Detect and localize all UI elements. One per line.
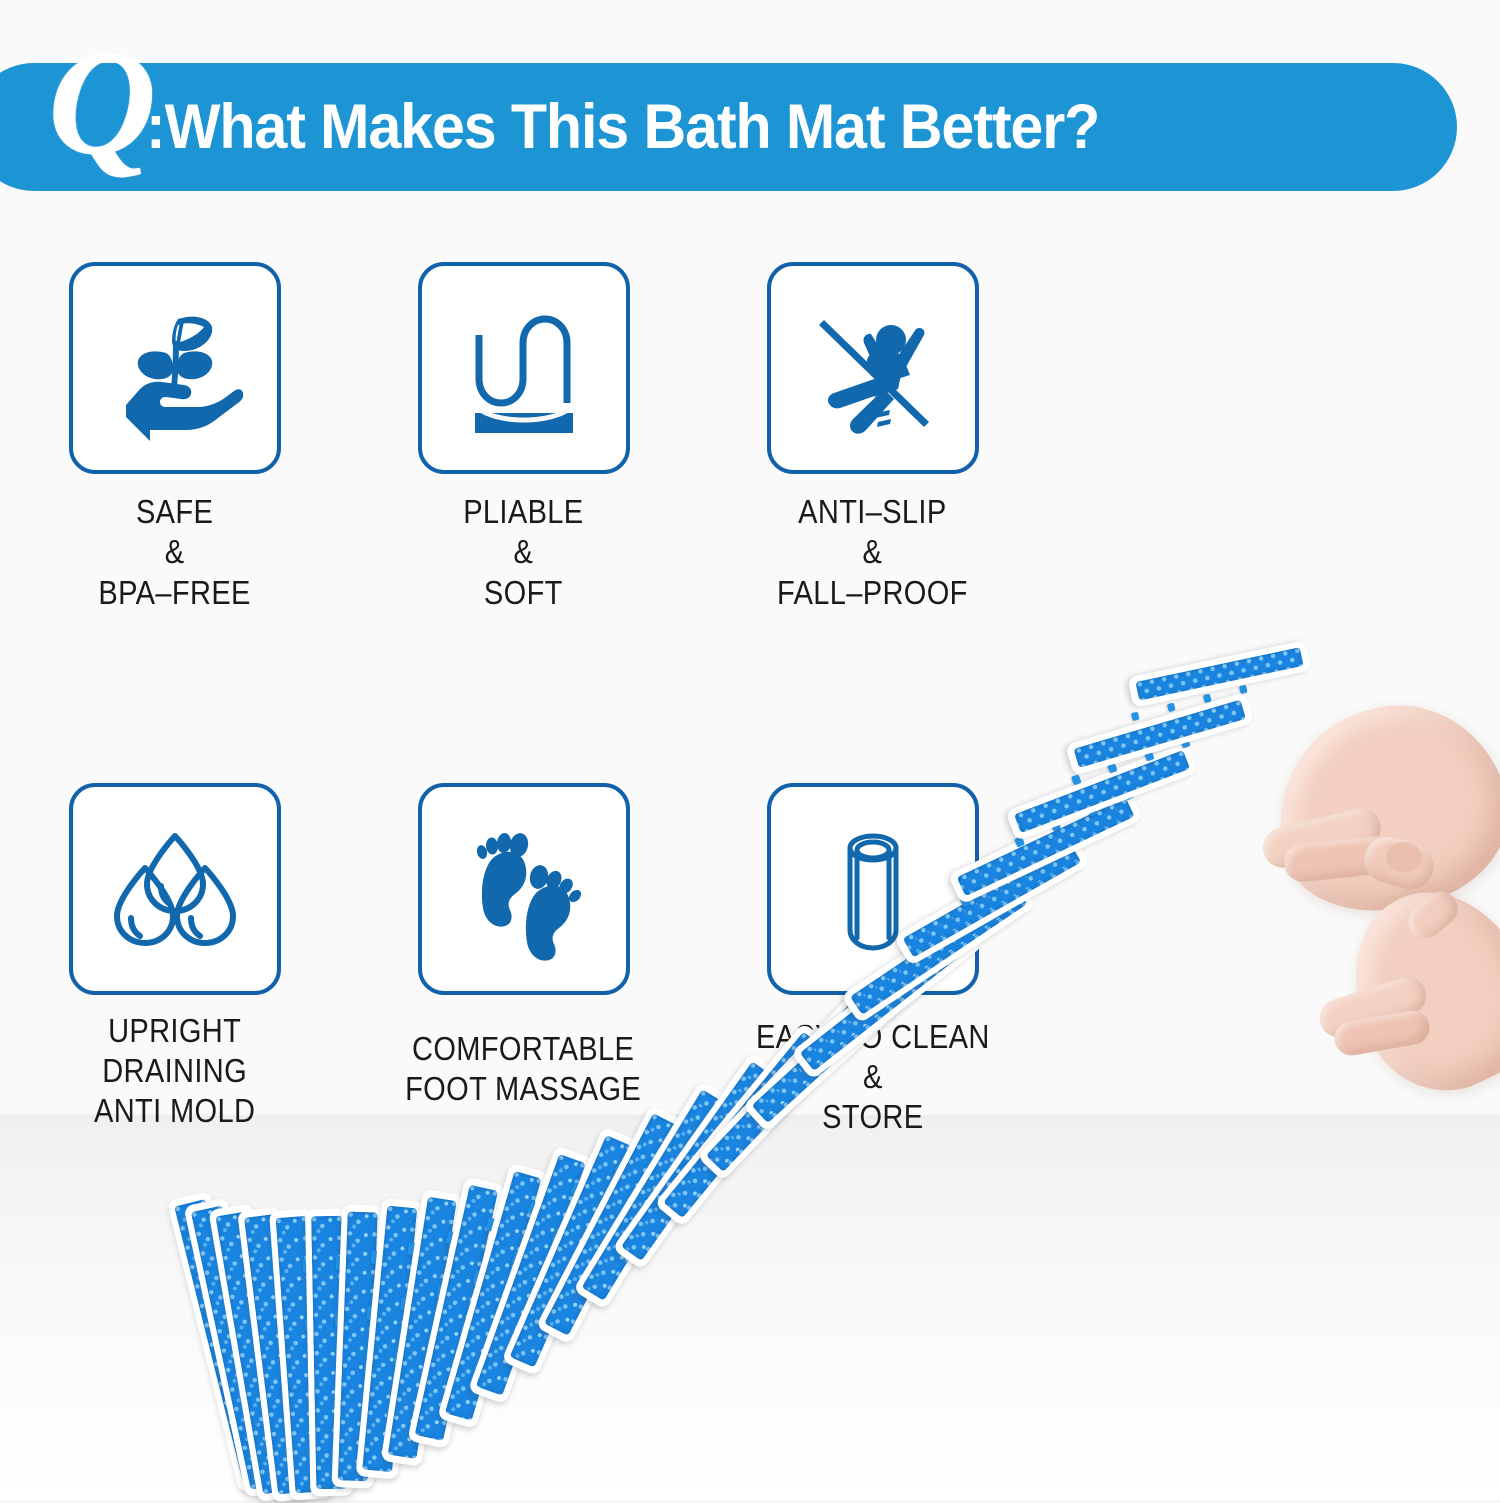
hand-holding-plant-icon	[100, 293, 250, 443]
icon-box	[767, 262, 979, 474]
feature-easy-clean-store: EASY TO CLEAN & STORE	[698, 783, 1047, 1138]
feature-pliable-soft: PLIABLE & SOFT	[349, 262, 698, 613]
feature-label: UPRIGHT DRAINING ANTI MOLD	[94, 1011, 255, 1132]
feature-upright-draining: UPRIGHT DRAINING ANTI MOLD	[0, 783, 349, 1138]
no-slip-falling-person-icon	[798, 293, 948, 443]
rolled-mat-cylinder-icon	[798, 814, 948, 964]
icon-box	[418, 262, 630, 474]
feature-label: SAFE & BPA–FREE	[98, 492, 250, 613]
icon-box	[69, 262, 281, 474]
icon-box	[418, 783, 630, 995]
feature-grid: SAFE & BPA–FREE PLIABLE & SOFT	[0, 262, 1100, 1138]
page-title: :What Makes This Bath Mat Better?	[146, 63, 1099, 191]
studio-floor	[0, 1118, 1500, 1500]
feature-safe-bpa-free: SAFE & BPA–FREE	[0, 262, 349, 613]
feature-label: PLIABLE & SOFT	[463, 492, 583, 613]
feature-label: COMFORTABLE FOOT MASSAGE	[405, 1029, 641, 1110]
question-mark-q-glyph: Q	[48, 28, 154, 178]
footprints-icon	[449, 814, 599, 964]
icon-box	[69, 783, 281, 995]
pliable-bending-strip-icon	[449, 293, 599, 443]
water-droplets-icon	[100, 814, 250, 964]
icon-box	[767, 783, 979, 995]
feature-anti-slip: ANTI–SLIP & FALL–PROOF	[698, 262, 1047, 613]
feature-label: EASY TO CLEAN & STORE	[756, 1017, 990, 1138]
feature-row-2: UPRIGHT DRAINING ANTI MOLD	[0, 783, 1100, 1138]
feature-foot-massage: COMFORTABLE FOOT MASSAGE	[349, 783, 698, 1138]
feature-label: ANTI–SLIP & FALL–PROOF	[777, 492, 968, 613]
feature-row-1: SAFE & BPA–FREE PLIABLE & SOFT	[0, 262, 1100, 613]
